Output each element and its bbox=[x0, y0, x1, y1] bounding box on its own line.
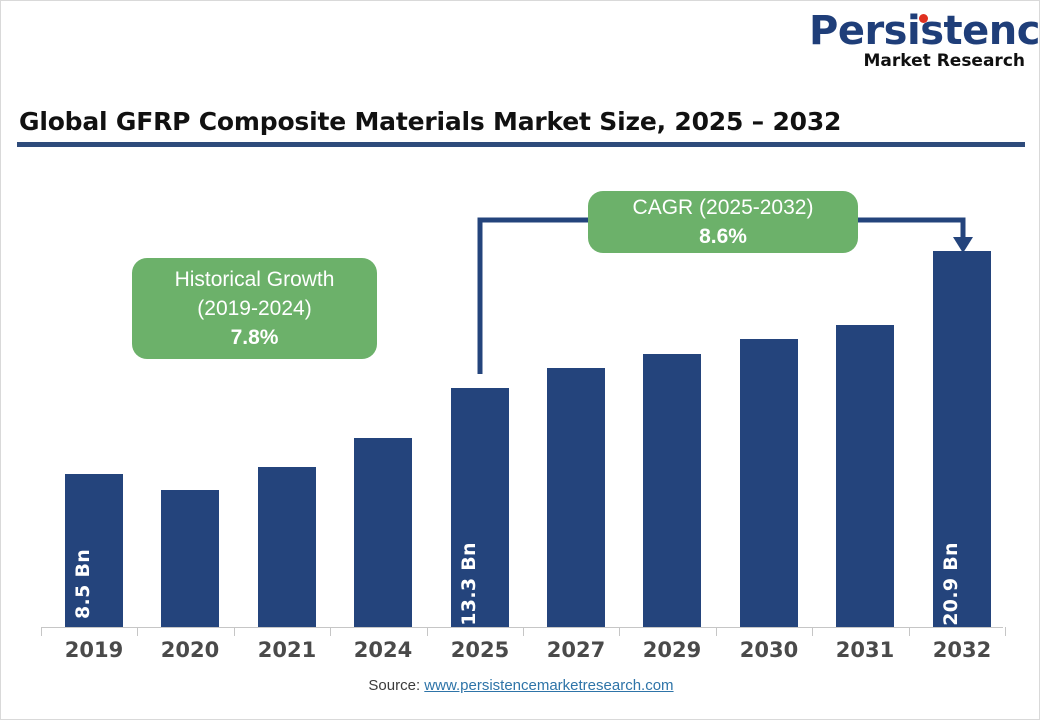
bar-2027[interactable] bbox=[547, 368, 605, 627]
x-axis-tick bbox=[909, 627, 910, 636]
bar-2030[interactable] bbox=[740, 339, 798, 627]
x-axis-tick bbox=[41, 627, 42, 636]
historical-growth-value: 7.8% bbox=[231, 323, 279, 352]
source-link[interactable]: www.persistencemarketresearch.com bbox=[424, 677, 673, 694]
x-axis-tick bbox=[812, 627, 813, 636]
chart-page: Persistence Market Research Global GFRP … bbox=[0, 0, 1040, 720]
x-axis-tick bbox=[716, 627, 717, 636]
x-axis-label-2029: 2029 bbox=[624, 638, 720, 662]
x-axis-tick bbox=[330, 627, 331, 636]
x-axis-label-2031: 2031 bbox=[817, 638, 913, 662]
x-axis-tick bbox=[427, 627, 428, 636]
bar-2032[interactable]: US$ 20.9 Bn bbox=[933, 251, 991, 627]
x-axis-tick bbox=[523, 627, 524, 636]
historical-growth-callout: Historical Growth (2019-2024) 7.8% bbox=[132, 258, 377, 359]
x-axis-tick bbox=[619, 627, 620, 636]
x-axis-label-2030: 2030 bbox=[721, 638, 817, 662]
bar-2029[interactable] bbox=[643, 354, 701, 627]
x-axis-tick bbox=[1005, 627, 1006, 636]
x-axis-label-2025: 2025 bbox=[432, 638, 528, 662]
bar-chart: US$ 8.5 Bn US$ 13.3 Bn bbox=[1, 1, 1040, 720]
x-axis-label-2019: 2019 bbox=[46, 638, 142, 662]
historical-growth-line1: Historical Growth bbox=[175, 265, 335, 294]
bar-2031[interactable] bbox=[836, 325, 894, 627]
bar-2019[interactable]: US$ 8.5 Bn bbox=[65, 474, 123, 627]
bar-2024[interactable] bbox=[354, 438, 412, 627]
x-axis-label-2020: 2020 bbox=[142, 638, 238, 662]
bar-2025[interactable]: US$ 13.3 Bn bbox=[451, 388, 509, 627]
x-axis-line bbox=[41, 627, 1003, 628]
cagr-line1: CAGR (2025-2032) bbox=[633, 193, 814, 222]
cagr-callout: CAGR (2025-2032) 8.6% bbox=[588, 191, 858, 253]
x-axis-label-2024: 2024 bbox=[335, 638, 431, 662]
source-line: Source: www.persistencemarketresearch.co… bbox=[1, 677, 1040, 694]
source-prefix: Source: bbox=[368, 677, 424, 694]
historical-growth-line2: (2019-2024) bbox=[197, 294, 311, 323]
x-axis-label-2027: 2027 bbox=[528, 638, 624, 662]
bar-2020[interactable] bbox=[161, 490, 219, 627]
x-axis-label-2032: 2032 bbox=[914, 638, 1010, 662]
x-axis-label-2021: 2021 bbox=[239, 638, 335, 662]
x-axis-tick bbox=[137, 627, 138, 636]
x-axis-tick bbox=[234, 627, 235, 636]
bar-2021[interactable] bbox=[258, 467, 316, 627]
cagr-value: 8.6% bbox=[699, 222, 747, 251]
